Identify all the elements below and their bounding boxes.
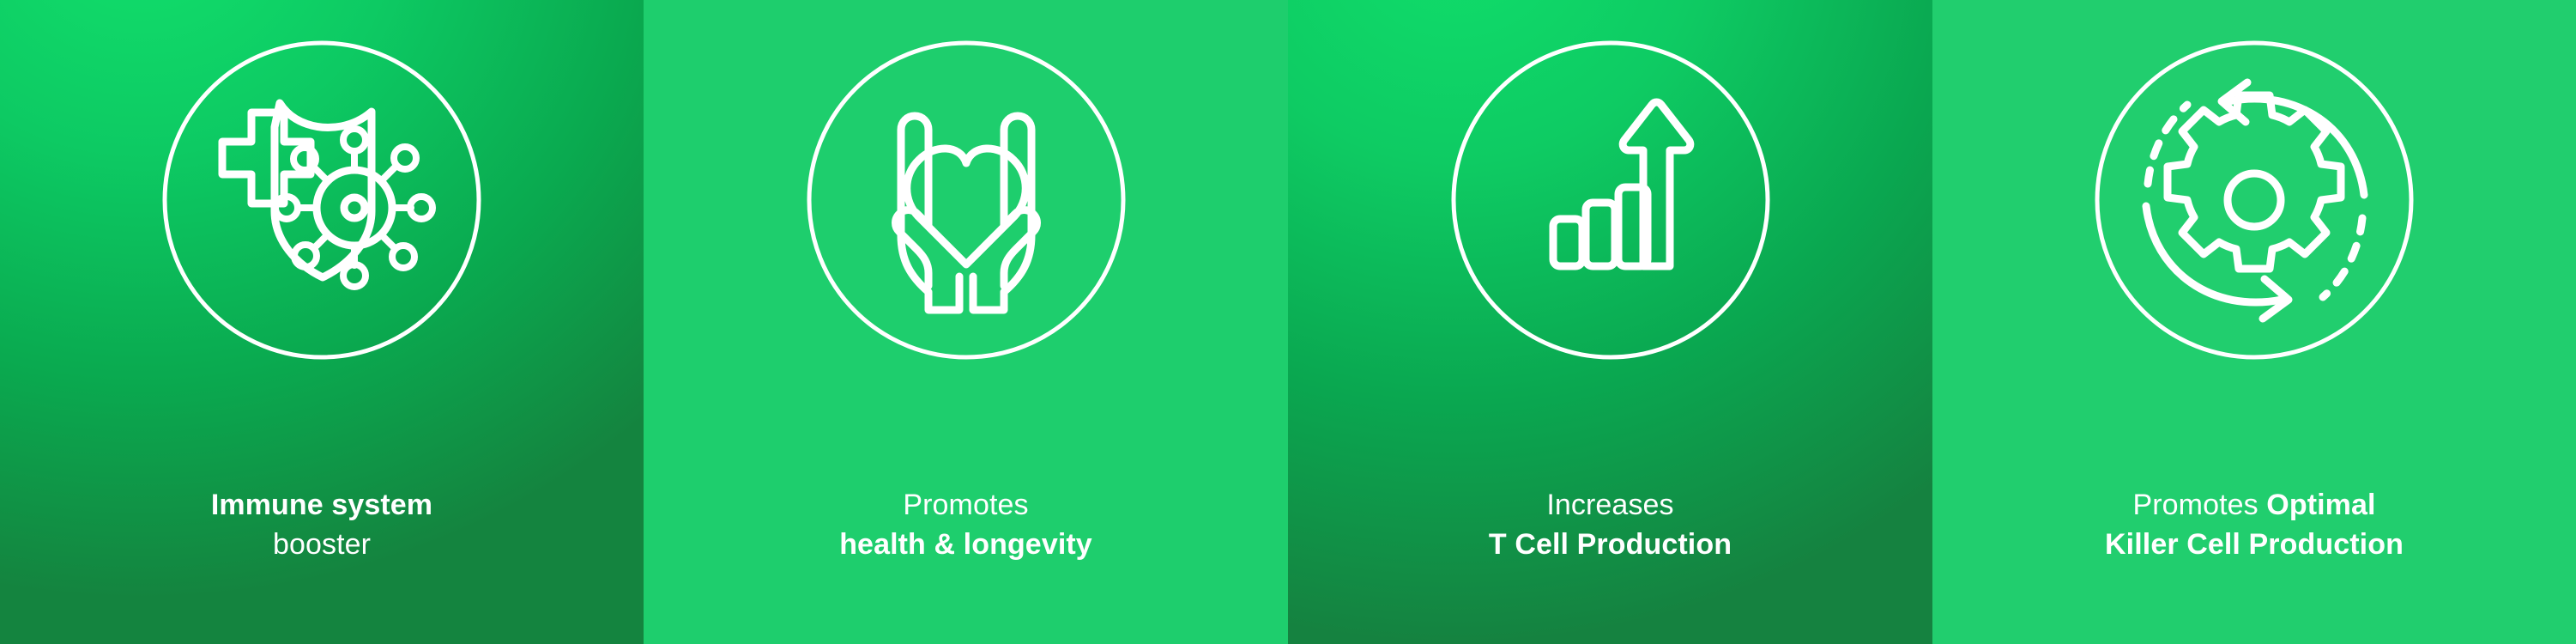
caption-line-1-bold: Optimal [2266,489,2375,521]
bar-chart-up-arrow-icon [1413,15,1808,410]
caption-line-1-regular: Promotes [2132,489,2266,521]
caption-line-2: health & longevity [644,529,1288,561]
panel-caption: Promotes health & longevity [644,489,1288,560]
benefit-panel-immune-system-booster: Immune system booster [0,0,644,644]
caption-line-2: T Cell Production [1288,529,1932,561]
panel-caption: Increases T Cell Production [1288,489,1932,560]
caption-line-1: Promotes Optimal [1932,489,2576,521]
caption-line-2: booster [0,529,644,561]
caption-line-1: Immune system [0,489,644,521]
caption-line-2: Killer Cell Production [1932,529,2576,561]
benefit-panel-promotes-optimal-killer-cell-production: Promotes Optimal Killer Cell Production [1932,0,2576,644]
benefit-panel-promotes-health-longevity: Promotes health & longevity [644,0,1288,644]
shield-cross-virus-icon [124,15,519,410]
benefit-panel-increases-t-cell-production: Increases T Cell Production [1288,0,1932,644]
hands-holding-heart-icon [769,15,1164,410]
caption-line-1: Increases [1288,489,1932,521]
gear-refresh-cycle-icon [2057,15,2452,410]
panel-caption: Promotes Optimal Killer Cell Production [1932,489,2576,560]
benefits-banner: Immune system booster Promotes health & … [0,0,2576,644]
panel-caption: Immune system booster [0,489,644,560]
caption-line-1: Promotes [644,489,1288,521]
